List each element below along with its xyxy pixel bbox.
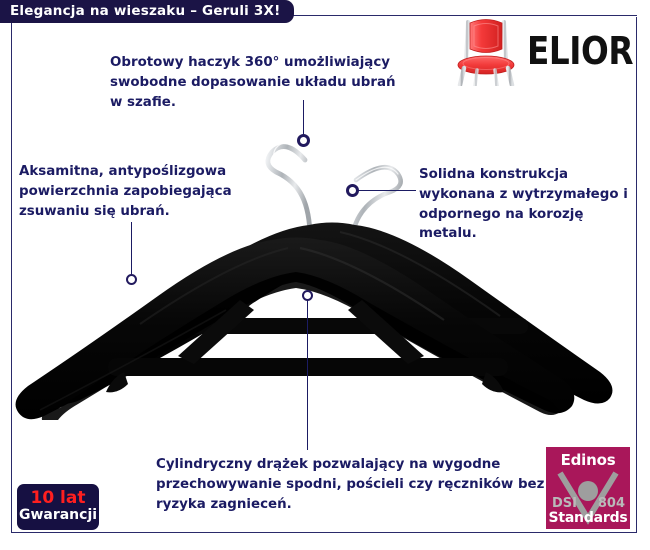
- callout-velvet-surface: Aksamitna, antypoślizgowa powierzchnia z…: [19, 162, 269, 221]
- leader-line-cylindrical-bar: [307, 300, 308, 450]
- warranty-label: Gwarancji: [19, 508, 97, 523]
- marker-swivel-hook: [297, 134, 310, 147]
- edinos-dsi: DSI: [552, 496, 577, 511]
- marker-cylindrical-bar: [302, 290, 313, 301]
- callout-cylindrical-bar: Cylindryczny drążek pozwalający na wygod…: [156, 455, 546, 514]
- marker-solid-construction: [346, 184, 359, 197]
- warranty-badge: 10 lat Gwarancji: [17, 484, 99, 530]
- edinos-standards: Standards: [546, 510, 630, 526]
- page-title: Elegancja na wieszaku – Geruli 3X!: [10, 5, 280, 19]
- hanger-hook-front: [268, 142, 310, 238]
- infographic-page: Elegancja na wieszaku – Geruli 3X!: [0, 0, 650, 550]
- marker-velvet-surface: [126, 274, 137, 285]
- leader-line-velvet-surface: [131, 222, 132, 279]
- red-chair-icon: [455, 16, 517, 86]
- warranty-years: 10 lat: [30, 490, 85, 508]
- brand-logo[interactable]: ELIOR: [455, 16, 630, 86]
- brand-name: ELIOR: [527, 32, 633, 70]
- edinos-badge: Edinos DSI 804 Standards: [546, 447, 630, 529]
- callout-solid-construction: Solidna konstrukcja wykonana z wytrzymał…: [419, 165, 644, 244]
- edinos-number: 804: [598, 496, 625, 511]
- header-rule: [275, 15, 637, 16]
- leader-line-solid-construction: [358, 190, 416, 191]
- header-banner: Elegancja na wieszaku – Geruli 3X!: [0, 0, 294, 23]
- callout-swivel-hook: Obrotowy haczyk 360° umożliwiający swobo…: [110, 53, 410, 112]
